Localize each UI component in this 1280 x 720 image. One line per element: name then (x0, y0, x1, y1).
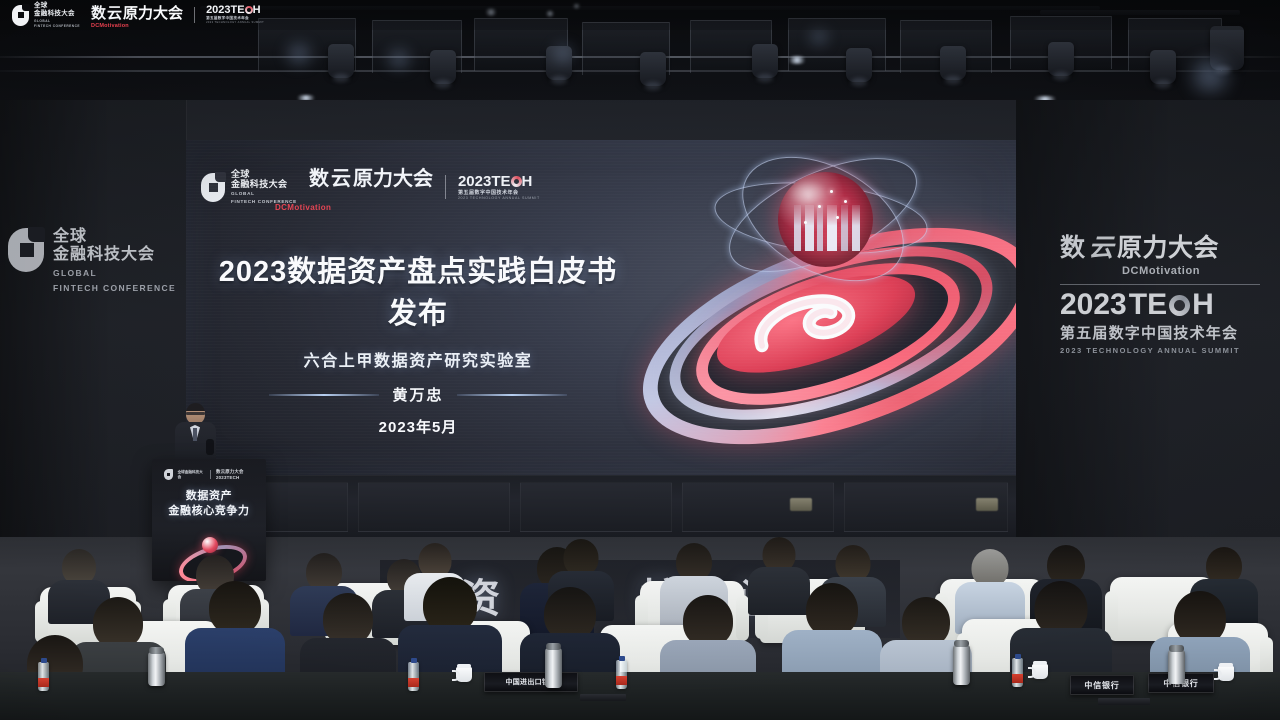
podium-title-line2: 金融核心竞争力 (152, 504, 266, 519)
wall-branding-left: 全球 金融科技大会 GLOBAL FINTECH CONFERENCE (8, 228, 180, 295)
thermos-flask (953, 645, 970, 685)
wall-right-yun: 云 (1089, 228, 1115, 264)
table-microphone (580, 694, 626, 701)
podium-title-line1: 数据资产 (152, 489, 266, 504)
watermark-dc-shu: 数 (91, 2, 106, 23)
conference-stage-photo: 全球 金融科技大会 GLOBAL FINTECH CONFERENCE 数 云 … (0, 0, 1280, 720)
wall-left-en1: GLOBAL (53, 268, 176, 279)
speaker-glasses (186, 412, 205, 415)
watermark-gftc-cn1: 全球 (34, 2, 80, 10)
tea-mug (1032, 664, 1048, 679)
stage-light (640, 52, 666, 86)
watermark-dc-yun: 云 (107, 2, 122, 23)
wall-right-divider (1060, 284, 1260, 285)
watermark-gftc-en1: GLOBAL (34, 19, 80, 23)
led-vignette (186, 140, 1016, 475)
wall-right-year: 2023 (1060, 290, 1127, 320)
wall-right-dcmotivation: DCMotivation (1122, 265, 1260, 277)
watermark-gftc-en2: FINTECH CONFERENCE (34, 24, 80, 28)
stage-light (1048, 42, 1074, 76)
broadcast-watermark-bar: 全球 金融科技大会 GLOBAL FINTECH CONFERENCE 数 云 … (0, 0, 1280, 30)
speaker-person (173, 403, 217, 465)
tea-mug (456, 667, 472, 682)
wall-left-cn1: 全球 (53, 228, 176, 246)
tea-mug (1218, 666, 1234, 681)
watermark-gftc-logo: 全球 金融科技大会 GLOBAL FINTECH CONFERENCE (12, 2, 80, 28)
swirl-logo-icon (245, 6, 253, 14)
wall-right-cn2: 第五届数字中国技术年会 (1060, 322, 1260, 343)
wall-left-en2: FINTECH CONFERENCE (53, 283, 176, 294)
gftc-logo-icon (164, 469, 173, 480)
water-bottle (38, 662, 49, 691)
wall-right-yuanli: 原力大会 (1117, 228, 1219, 264)
gftc-logo-icon (12, 5, 29, 26)
watermark-tech-a: TE (231, 4, 245, 16)
watermark-tech-logo: 2023TEH 第五届数字中国技术年会 2023 TECHNOLOGY ANNU… (206, 5, 264, 24)
watermark-dc-logo: 数 云 原力大会 DCMotivation (91, 2, 183, 29)
microphone-icon (206, 439, 214, 455)
wall-right-tech-a: TE (1129, 290, 1167, 320)
wall-right-tech-b: H (1192, 290, 1214, 320)
podium-gftc-label: 全球金融科技大会 (178, 470, 205, 479)
water-bottle (616, 660, 627, 689)
watermark-dc-sub: DCMotivation (91, 23, 183, 29)
podium-dc-label: 数云原力大会 2023TECH (216, 469, 266, 480)
thermos-flask (545, 648, 562, 688)
watermark-tech-en: 2023 TECHNOLOGY ANNUAL SUMMIT (206, 22, 264, 25)
water-bottle (408, 662, 419, 691)
water-bottle (1012, 658, 1023, 687)
wall-left-cn2: 金融科技大会 (53, 246, 176, 264)
wall-branding-right: 数 云 原力大会 DCMotivation 2023 TE H 第五届数字中国技… (1060, 228, 1260, 355)
stage-light (752, 44, 778, 78)
stage-light (430, 50, 456, 84)
gftc-logo-icon (8, 228, 44, 272)
wall-right-en2: 2023 TECHNOLOGY ANNUAL SUMMIT (1060, 346, 1260, 355)
main-led-screen: 全球 金融科技大会 GLOBAL FINTECH CONFERENCE 数 云 … (186, 140, 1016, 475)
nameplate: 中国进出口银行 (484, 672, 578, 692)
watermark-gftc-cn2: 金融科技大会 (34, 10, 80, 18)
thermos-flask (148, 652, 165, 686)
watermark-tech-b: H (253, 4, 261, 16)
stage-light (940, 46, 966, 80)
podium-logo-strip: 全球金融科技大会 数云原力大会 2023TECH (164, 469, 266, 480)
wall-right-shu: 数 (1060, 228, 1086, 264)
stage-light (1150, 50, 1176, 84)
watermark-year: 2023 (206, 4, 230, 16)
thermos-flask (1168, 650, 1185, 684)
nameplate: 中信银行 (1070, 675, 1134, 695)
stage-light (328, 44, 354, 78)
table-microphone (1098, 698, 1150, 705)
watermark-divider (194, 7, 195, 23)
swirl-logo-icon (1169, 295, 1190, 316)
stage-light (846, 48, 872, 82)
podium-title: 数据资产 金融核心竞争力 (152, 489, 266, 519)
watermark-dc-yuanli: 原力大会 (123, 2, 183, 23)
